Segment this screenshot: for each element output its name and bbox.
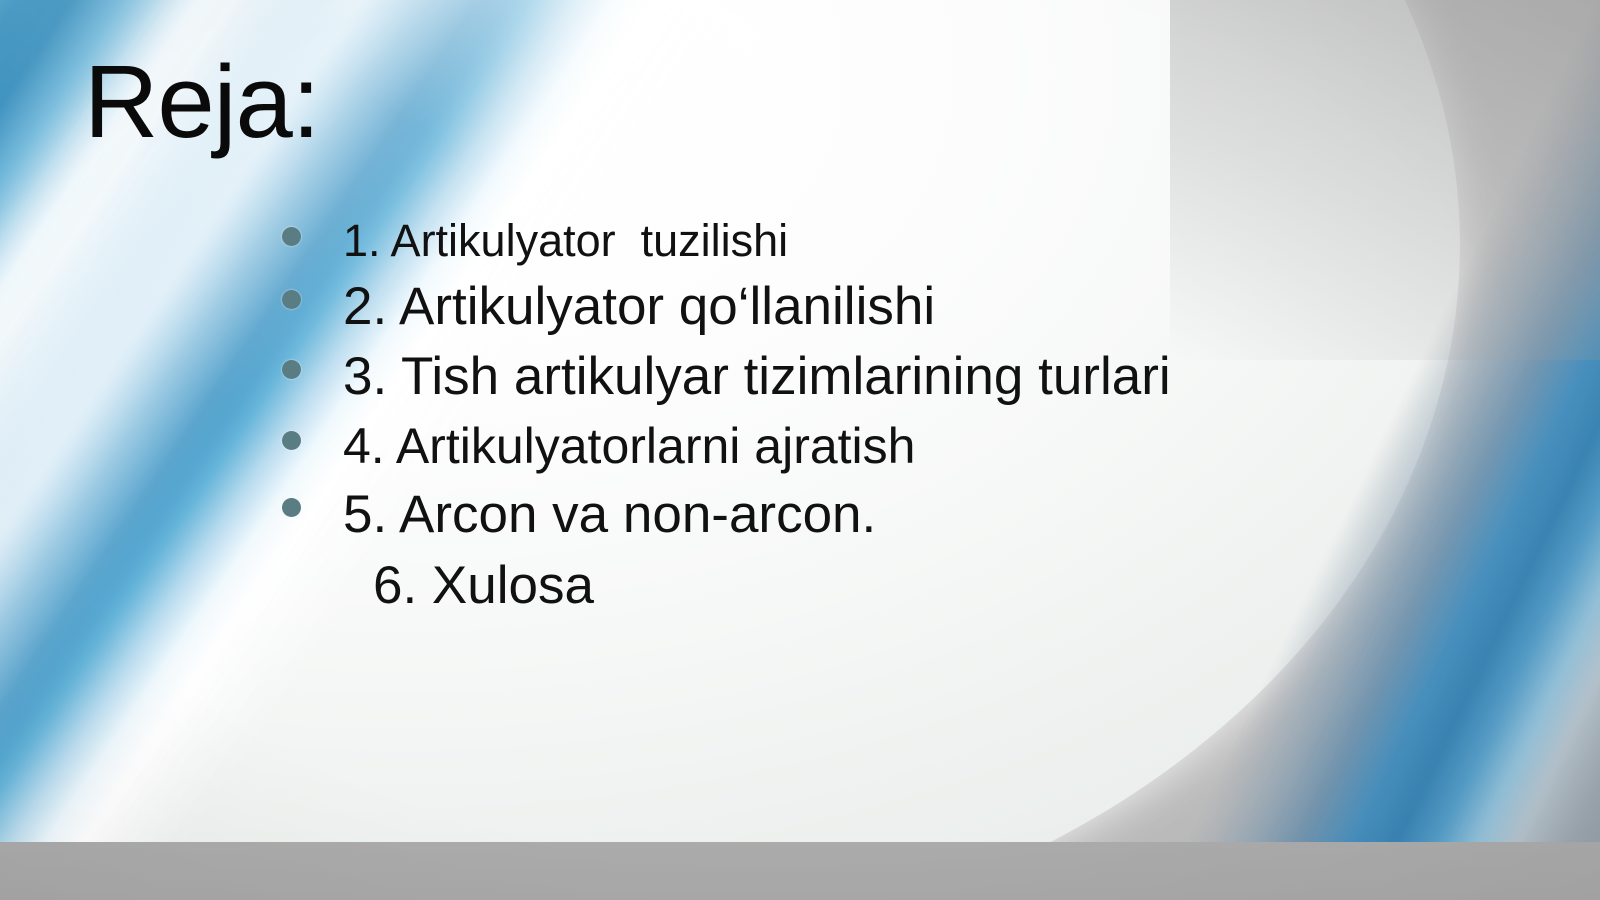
list-item: 2. Artikulyator qo‘llanilishi <box>272 274 1302 341</box>
list-item-label: 1. Artikulyator tuzilishi <box>272 213 1302 270</box>
list-item-label: 5. Arcon va non-arcon. <box>272 482 1302 549</box>
slide-bullet-list: 1. Artikulyator tuzilishi 2. Artikulyato… <box>272 213 1302 620</box>
blue-ribbon-right-secondary <box>1316 34 1600 900</box>
list-item: 1. Artikulyator tuzilishi <box>272 213 1302 270</box>
list-item: 6. Xulosa <box>272 553 1302 620</box>
bullet-icon <box>282 227 301 246</box>
presentation-slide: Reja: 1. Artikulyator tuzilishi 2. Artik… <box>0 0 1600 900</box>
list-item-label: 6. Xulosa <box>272 553 1302 620</box>
list-item-label: 4. Artikulyatorlarni ajratish <box>272 415 1302 478</box>
list-item: 5. Arcon va non-arcon. <box>272 482 1302 549</box>
list-item: 4. Artikulyatorlarni ajratish <box>272 415 1302 478</box>
list-item-label: 3. Tish artikulyar tizimlarining turlari <box>272 344 1302 411</box>
slide-title: Reja: <box>84 48 319 156</box>
list-item-label: 2. Artikulyator qo‘llanilishi <box>272 274 1302 341</box>
bullet-icon <box>282 290 301 309</box>
list-item: 3. Tish artikulyar tizimlarining turlari <box>272 344 1302 411</box>
bottom-gray-band <box>0 842 1600 900</box>
